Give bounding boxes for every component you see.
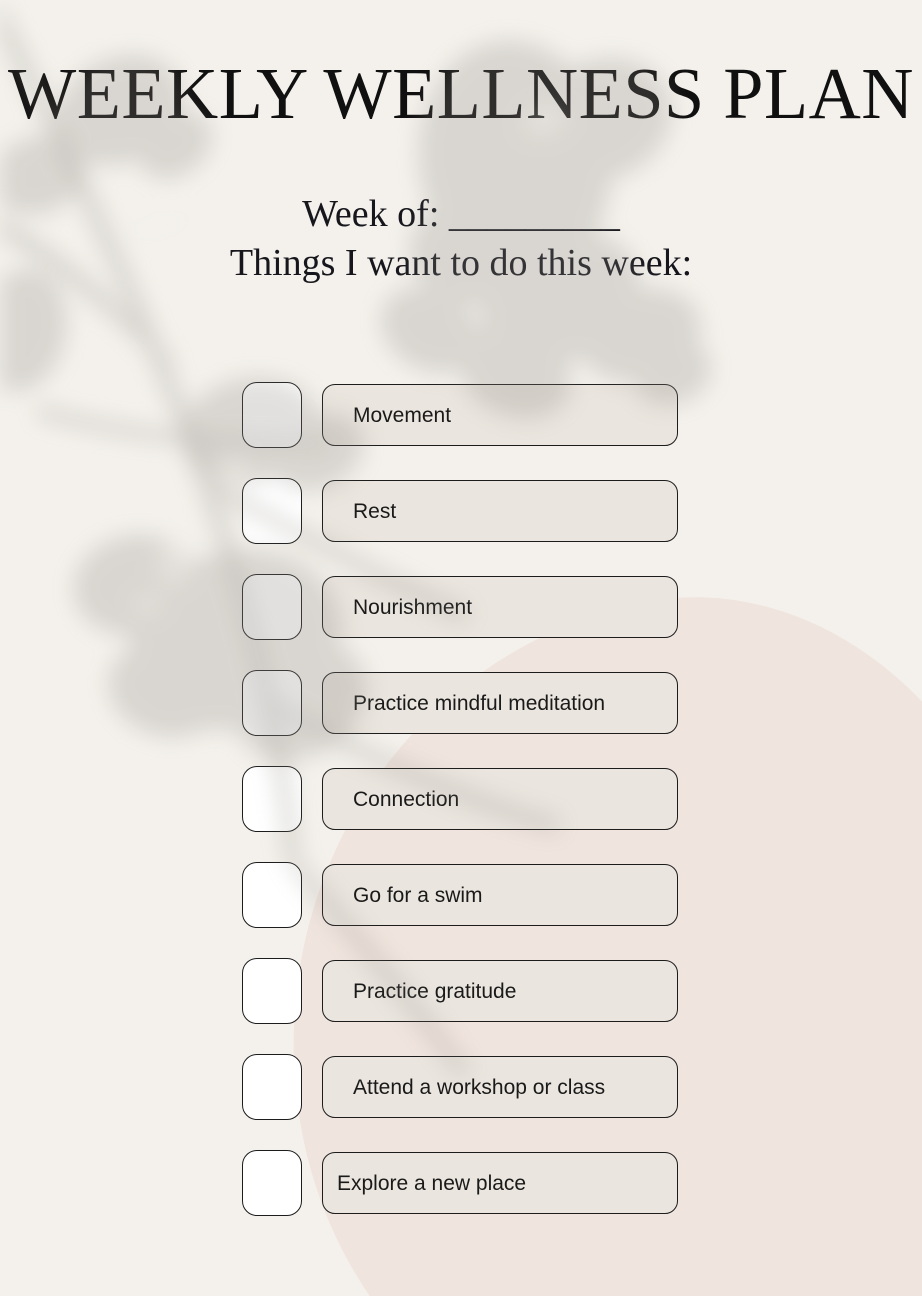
task-field[interactable]: Movement [322,384,678,446]
task-field[interactable]: Practice gratitude [322,960,678,1022]
checkbox[interactable] [242,766,302,832]
checklist-row: Go for a swim [242,861,678,929]
checklist-row: Attend a workshop or class [242,1053,678,1121]
task-field[interactable]: Practice mindful meditation [322,672,678,734]
checklist-row: Nourishment [242,573,678,641]
checkbox[interactable] [242,670,302,736]
task-label: Practice mindful meditation [323,693,605,714]
checkbox[interactable] [242,958,302,1024]
checklist-row: Explore a new place [242,1149,678,1217]
task-label: Rest [323,501,396,522]
task-field[interactable]: Rest [322,480,678,542]
task-label: Explore a new place [323,1173,526,1194]
task-field[interactable]: Nourishment [322,576,678,638]
task-label: Attend a workshop or class [323,1077,605,1098]
task-label: Go for a swim [323,885,483,906]
task-field[interactable]: Attend a workshop or class [322,1056,678,1118]
checklist-row: Practice mindful meditation [242,669,678,737]
checkbox[interactable] [242,1150,302,1216]
task-label: Nourishment [323,597,472,618]
task-label: Connection [323,789,459,810]
task-label: Practice gratitude [323,981,516,1002]
week-of-line[interactable]: Week of: _________ [0,190,922,239]
subtitle-block: Week of: _________ Things I want to do t… [0,190,922,288]
task-field[interactable]: Explore a new place [322,1152,678,1214]
task-field[interactable]: Go for a swim [322,864,678,926]
checkbox[interactable] [242,478,302,544]
prompt-line: Things I want to do this week: [0,239,922,288]
checklist: MovementRestNourishmentPractice mindful … [242,381,678,1217]
weekly-wellness-plan-page: WEEKLY WELLNESS PLAN Week of: _________ … [0,0,922,1296]
checklist-row: Movement [242,381,678,449]
checklist-row: Practice gratitude [242,957,678,1025]
page-title: WEEKLY WELLNESS PLAN [5,57,918,130]
checkbox[interactable] [242,574,302,640]
checkbox[interactable] [242,862,302,928]
checklist-row: Connection [242,765,678,833]
checkbox[interactable] [242,382,302,448]
checkbox[interactable] [242,1054,302,1120]
task-label: Movement [323,405,451,426]
checklist-row: Rest [242,477,678,545]
task-field[interactable]: Connection [322,768,678,830]
